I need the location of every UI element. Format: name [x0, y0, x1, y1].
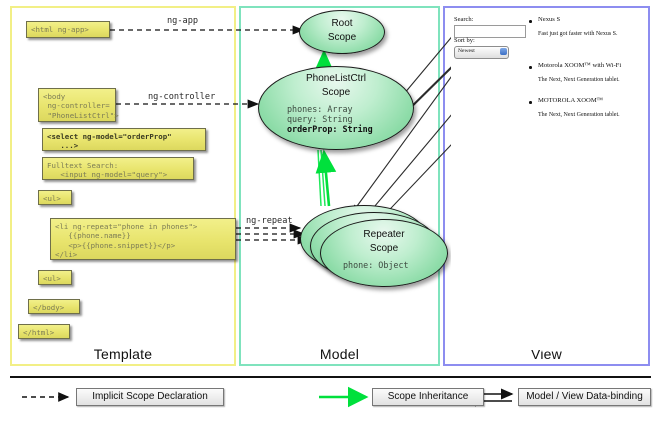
chevron-down-icon[interactable]	[500, 48, 507, 55]
scope-root-title-1: Root	[300, 11, 384, 30]
search-label: Search:	[454, 16, 474, 23]
legend-label-model-view-data-binding: Model / View Data-binding	[518, 388, 651, 406]
panel-model-title: Model	[241, 346, 438, 362]
label-ng-app: ng-app	[167, 16, 198, 26]
scope-phonelistctrl-title-1: PhoneListCtrl	[259, 67, 413, 85]
label-ng-controller: ng-controller	[148, 92, 215, 102]
phone-snippet: The Next, Next Generation tablet.	[538, 77, 620, 83]
label-ng-repeat: ng-repeat	[246, 216, 293, 226]
phone-snippet: The Next, Next Generation tablet.	[538, 112, 620, 118]
diagram-canvas: Template Model View	[0, 0, 661, 425]
scope-repeater-title-2: Scope	[321, 241, 447, 255]
scope-prop-query: query: String	[287, 114, 413, 124]
phone-snippet: Fast just got faster with Nexus S.	[538, 31, 618, 37]
sort-by-selected-value: Newest	[458, 48, 475, 54]
code-box-ul-open: <ul>	[38, 190, 72, 205]
phone-name[interactable]: MOTOROLA XOOM™	[538, 97, 603, 104]
view-rendered-app: Search: Sort by: Newest Nexus S Fast jus…	[451, 14, 643, 350]
legend-label-scope-inheritance: Scope Inheritance	[372, 388, 484, 406]
list-bullet	[529, 101, 532, 104]
sort-by-select[interactable]: Newest	[454, 46, 509, 59]
code-box-body-close: </body>	[28, 299, 80, 314]
legend-label-implicit-scope-declaration: Implicit Scope Declaration	[76, 388, 224, 406]
phone-name[interactable]: Motorola XOOM™ with Wi-Fi	[538, 62, 621, 69]
scope-repeater-title-1: Repeater	[321, 220, 447, 241]
code-box-li-repeat: <li ng-repeat="phone in phones"> {{phone…	[50, 218, 236, 260]
panel-template-title: Template	[12, 346, 234, 362]
phone-name[interactable]: Nexus S	[538, 16, 560, 23]
scope-repeater: Repeater Scope phone: Object	[320, 219, 448, 287]
code-box-body-tag: <body ng-controller= "PhoneListCtrl">	[38, 88, 116, 122]
code-box-html-tag: <html ng-app>	[26, 21, 110, 38]
code-box-search-input: Fulltext Search: <input ng-model="query"…	[42, 157, 194, 180]
list-bullet	[529, 66, 532, 69]
scope-prop-phone: phone: Object	[343, 260, 447, 270]
code-box-select-tag: <select ng-model="orderProp" ...>	[42, 128, 206, 151]
scope-phonelistctrl-title-2: Scope	[259, 85, 413, 99]
code-box-html-close: </html>	[18, 324, 70, 339]
code-box-ul-close: <ul>	[38, 270, 72, 285]
scope-prop-orderprop: orderProp: String	[287, 124, 413, 134]
sort-by-label: Sort by:	[454, 37, 475, 44]
list-bullet	[529, 20, 532, 23]
scope-prop-phones: phones: Array	[287, 104, 413, 114]
scope-root-title-2: Scope	[300, 30, 384, 44]
scope-root: Root Scope	[299, 10, 385, 54]
panel-model: Model	[239, 6, 440, 366]
scope-phonelistctrl: PhoneListCtrl Scope phones: Array query:…	[258, 66, 414, 150]
legend: Implicit Scope Declaration Scope Inherit…	[10, 376, 651, 420]
